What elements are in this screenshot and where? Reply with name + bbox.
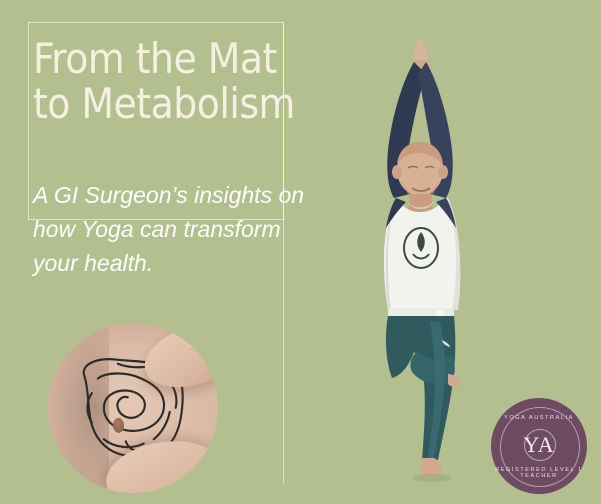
- yoga-australia-badge: YOGA AUSTRALIA YA REGISTERED LEVEL 1 TEA…: [491, 398, 587, 494]
- poster-headline: From the Mat to Metabolism: [33, 36, 303, 127]
- badge-text-top: YOGA AUSTRALIA: [491, 415, 587, 421]
- badge-logo-text: YA: [491, 432, 587, 458]
- poster-canvas: From the Mat to Metabolism A GI Surgeon’…: [0, 0, 601, 504]
- abdomen-with-drawn-intestines-photo: [48, 323, 218, 493]
- divider-left-vertical: [28, 22, 29, 220]
- badge-text-bottom: REGISTERED LEVEL 1 TEACHER: [491, 467, 587, 479]
- left-hand-fingers: [151, 482, 206, 493]
- right-hand-fingers: [186, 328, 218, 352]
- divider-top-horizontal: [28, 22, 284, 23]
- poster-subhead: A GI Surgeon’s insights on how Yoga can …: [33, 178, 373, 280]
- navel-detail: [113, 418, 124, 433]
